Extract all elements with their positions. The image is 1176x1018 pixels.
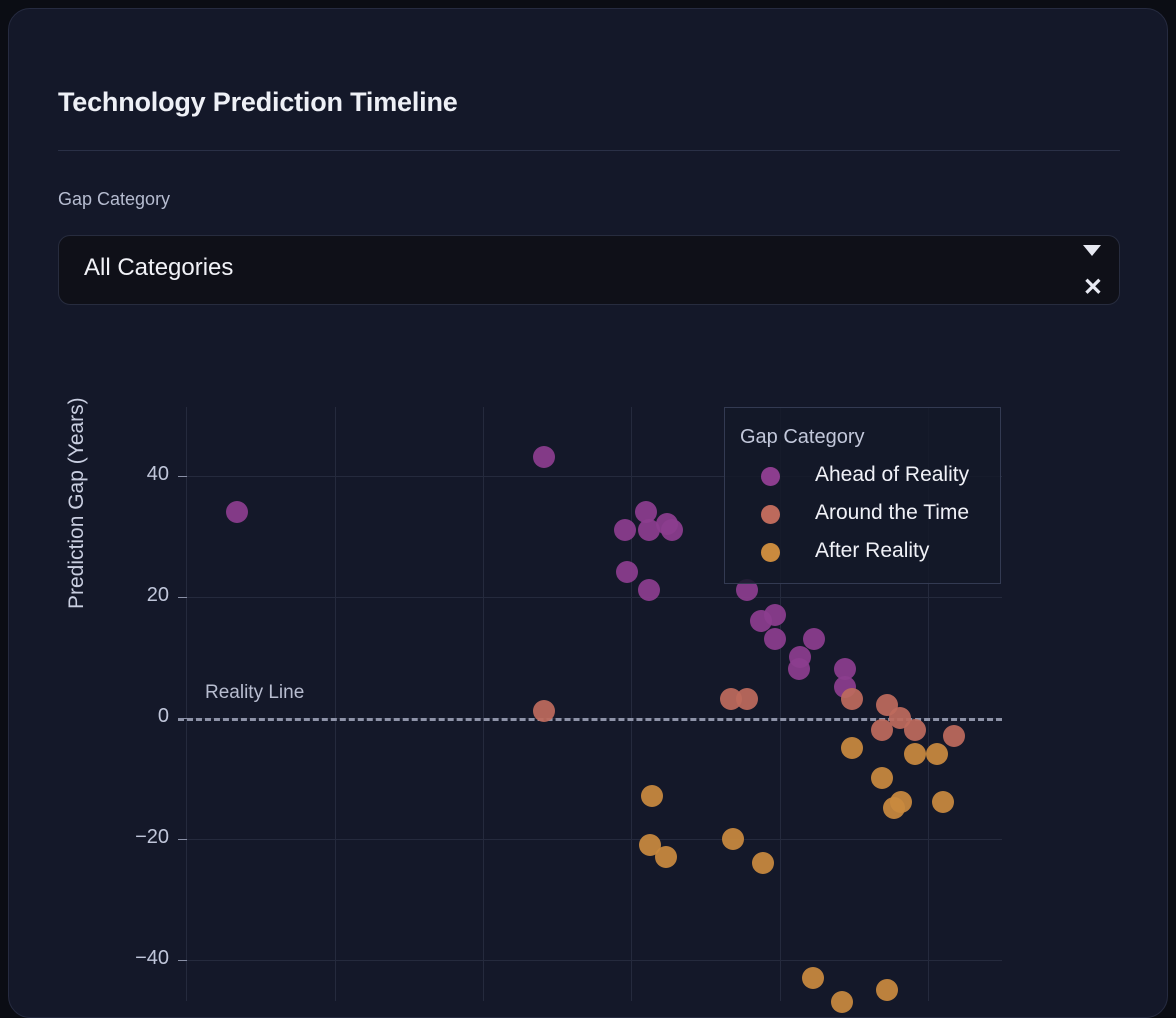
legend-item[interactable]: Around the Time <box>761 501 991 531</box>
data-point[interactable] <box>841 688 863 710</box>
data-point[interactable] <box>803 628 825 650</box>
legend-swatch-icon <box>761 543 780 562</box>
chart-legend: Gap Category Ahead of RealityAround the … <box>724 407 1001 584</box>
dashboard-card: Technology Prediction Timeline Gap Categ… <box>8 8 1168 1018</box>
legend-item-label: Ahead of Reality <box>815 463 969 487</box>
x-gridline <box>335 407 336 1001</box>
y-axis-tick-label: 20 <box>109 584 169 607</box>
data-point[interactable] <box>722 828 744 850</box>
legend-title: Gap Category <box>740 426 865 449</box>
data-point[interactable] <box>831 991 853 1013</box>
y-axis-tick-mark <box>178 839 187 840</box>
data-point[interactable] <box>764 604 786 626</box>
scatter-plot: 40200−20−40 Prediction Gap (Years) Reali… <box>9 9 1168 1018</box>
data-point[interactable] <box>616 561 638 583</box>
data-point[interactable] <box>871 767 893 789</box>
data-point[interactable] <box>764 628 786 650</box>
data-point[interactable] <box>883 797 905 819</box>
legend-item-label: Around the Time <box>815 501 969 525</box>
data-point[interactable] <box>736 688 758 710</box>
y-axis-ticks: 40200−20−40 <box>89 9 169 1018</box>
data-point[interactable] <box>871 719 893 741</box>
y-axis-tick-mark <box>178 960 187 961</box>
x-gridline <box>483 407 484 1001</box>
legend-swatch-icon <box>761 505 780 524</box>
x-gridline <box>186 407 187 1001</box>
data-point[interactable] <box>641 785 663 807</box>
data-point[interactable] <box>638 579 660 601</box>
y-axis-tick-mark <box>178 476 187 477</box>
legend-item[interactable]: After Reality <box>761 539 991 569</box>
data-point[interactable] <box>841 737 863 759</box>
data-point[interactable] <box>876 979 898 1001</box>
data-point[interactable] <box>655 846 677 868</box>
data-point[interactable] <box>802 967 824 989</box>
y-axis-tick-label: −40 <box>109 947 169 970</box>
y-axis-tick-mark <box>178 597 187 598</box>
y-gridline <box>178 597 1002 598</box>
data-point[interactable] <box>943 725 965 747</box>
y-axis-title: Prediction Gap (Years) <box>65 269 89 609</box>
data-point[interactable] <box>904 743 926 765</box>
y-axis-tick-label: 40 <box>109 463 169 486</box>
data-point[interactable] <box>932 791 954 813</box>
y-axis-tick-mark <box>178 718 187 719</box>
data-point[interactable] <box>788 658 810 680</box>
y-gridline <box>178 839 1002 840</box>
y-axis-tick-label: 0 <box>109 705 169 728</box>
y-axis-tick-label: −20 <box>109 826 169 849</box>
data-point[interactable] <box>904 719 926 741</box>
data-point[interactable] <box>226 501 248 523</box>
data-point[interactable] <box>752 852 774 874</box>
legend-swatch-icon <box>761 467 780 486</box>
data-point[interactable] <box>614 519 636 541</box>
x-gridline <box>631 407 632 1001</box>
data-point[interactable] <box>533 446 555 468</box>
data-point[interactable] <box>661 519 683 541</box>
legend-item-label: After Reality <box>815 539 929 563</box>
reality-line-label: Reality Line <box>205 682 304 704</box>
legend-item[interactable]: Ahead of Reality <box>761 463 991 493</box>
data-point[interactable] <box>926 743 948 765</box>
y-gridline <box>178 960 1002 961</box>
